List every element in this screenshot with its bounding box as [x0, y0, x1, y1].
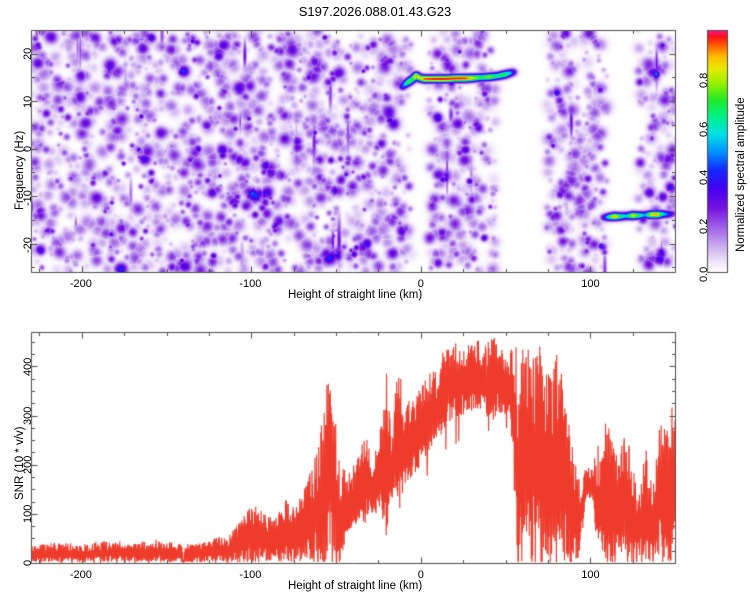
colorbar-label: Normalized spectral amplitude	[735, 97, 747, 252]
spectrogram-ytick-3: -10	[22, 190, 34, 206]
snr-ytick-1: 100	[22, 505, 34, 523]
spectrogram-xtick-2: 0	[418, 278, 424, 290]
spectrogram-ytick-1: 10	[22, 95, 34, 107]
snr-xtick-0: -200	[70, 569, 92, 581]
snr-x-axis-label: Height of straight line (km)	[288, 580, 422, 592]
figure-title: S197.2026.088.01.43.G23	[0, 4, 750, 19]
colorbar-tick-2: 0.4	[698, 170, 710, 185]
spectrogram-ytick-0: 20	[22, 48, 34, 60]
snr-xtick-2: 0	[418, 569, 424, 581]
colorbar-tick-1: 0.2	[698, 218, 710, 233]
colorbar-tick-3: 0.6	[698, 122, 710, 137]
spectrogram-x-axis-label: Height of straight line (km)	[288, 289, 422, 301]
spectrogram-ytick-4: -20	[22, 237, 34, 253]
spectrogram-xtick-1: -100	[239, 278, 261, 290]
colorbar-tick-4: 0.8	[698, 73, 710, 88]
spectrogram-xtick-3: 100	[581, 278, 599, 290]
snr-ytick-3: 300	[22, 407, 34, 425]
snr-xtick-1: -100	[239, 569, 261, 581]
snr-xtick-3: 100	[581, 569, 599, 581]
colorbar-tick-0: 0.0	[698, 267, 710, 282]
figure-root: S197.2026.088.01.43.G23 Frequency (Hz) H…	[0, 0, 750, 600]
snr-ytick-2: 200	[22, 456, 34, 474]
snr-ytick-0: 0	[22, 560, 34, 566]
spectrogram-xtick-0: -200	[70, 278, 92, 290]
spectrogram-ytick-2: 0	[22, 146, 34, 152]
snr-ytick-4: 400	[22, 358, 34, 376]
